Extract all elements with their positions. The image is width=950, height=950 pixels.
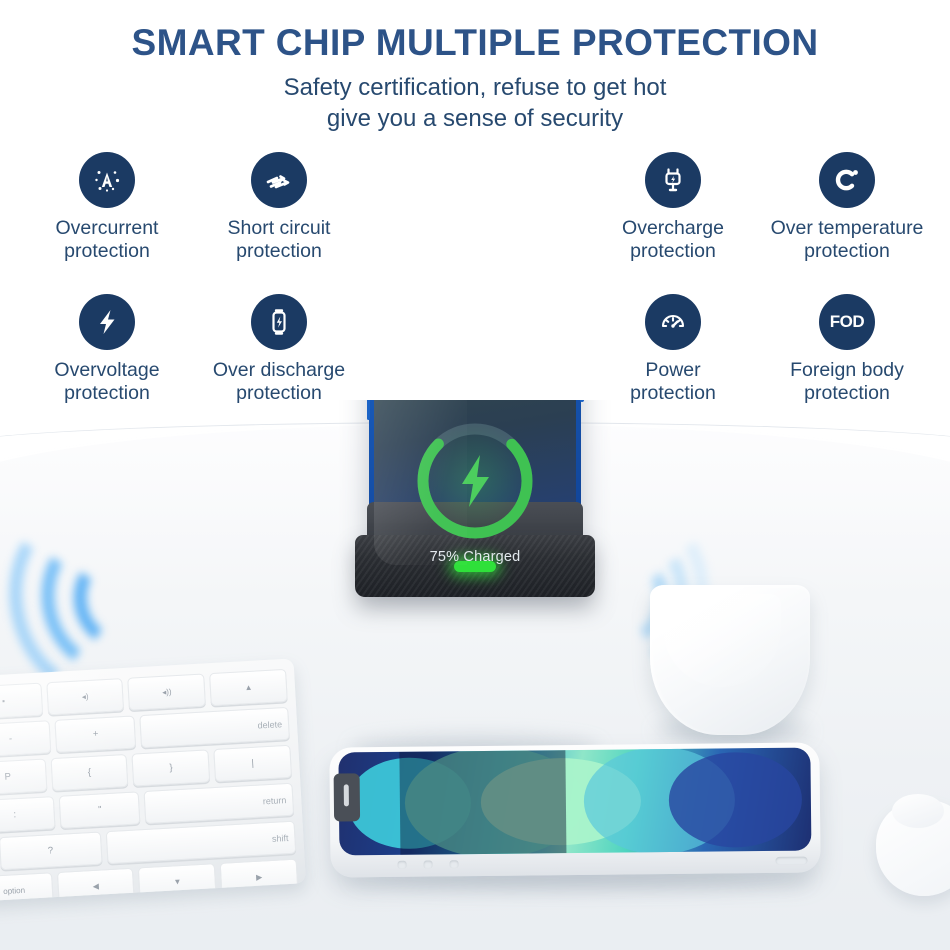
mouse-highlight xyxy=(663,594,781,687)
key-minus: - xyxy=(0,720,52,757)
feature-label: Overcharge protection xyxy=(583,217,763,262)
charging-bolt-icon xyxy=(452,453,498,509)
plug-bolt-icon xyxy=(645,152,701,208)
flat-phone xyxy=(329,742,820,877)
key-delete: delete xyxy=(140,707,290,748)
charge-status-text: 75% Charged xyxy=(374,549,576,565)
key-p: P xyxy=(0,758,47,795)
speaker-hole xyxy=(450,860,459,868)
header: SMART CHIP MULTIPLE PROTECTION Safety ce… xyxy=(0,0,950,134)
fod-text-icon: FOD xyxy=(819,294,875,350)
feature-overvoltage-protection: Overvoltage protection xyxy=(17,294,197,404)
magic-mouse xyxy=(650,585,810,735)
key-quote: " xyxy=(59,791,141,828)
key-bracket-left: { xyxy=(50,754,129,791)
feature-label: Over discharge protection xyxy=(189,359,369,404)
product-image-canvas: SMART CHIP MULTIPLE PROTECTION Safety ce… xyxy=(0,0,950,950)
screen-shadow-overlay xyxy=(400,750,566,855)
feature-over-temperature-protection: Over temperature protection xyxy=(757,152,937,262)
feature-over-discharge-protection: Over discharge protection xyxy=(189,294,369,404)
wallpaper-oval xyxy=(669,752,802,848)
key: ◂) xyxy=(46,678,125,715)
key: ◂)) xyxy=(128,673,207,710)
feature-short-circuit-protection: Short circuit protection xyxy=(189,152,369,262)
flat-phone-bottom-edge xyxy=(339,851,811,876)
speaker-hole xyxy=(398,861,407,869)
ampere-a-icon xyxy=(79,152,135,208)
magic-keyboard: ▪ ▪ ◂) ◂)) ▲ O - + delete O P { } | L xyxy=(0,658,306,906)
feature-overcurrent-protection: Overcurrent protection xyxy=(17,152,197,262)
wireless-charging-dock: ⟳ 75% Ch xyxy=(345,400,605,732)
celsius-degree-icon xyxy=(819,152,875,208)
key: ▪ xyxy=(0,683,43,720)
lightning-arrows-icon xyxy=(251,152,307,208)
feature-label: Short circuit protection xyxy=(189,217,369,262)
speaker-hole xyxy=(424,860,433,868)
feature-label: Overvoltage protection xyxy=(17,359,197,404)
charging-ring xyxy=(409,415,541,547)
key-semicolon: : xyxy=(0,796,56,833)
bolt-icon xyxy=(79,294,135,350)
fod-label: FOD xyxy=(830,312,864,332)
key-bracket-right: } xyxy=(132,749,211,786)
key-slash: ? xyxy=(0,831,103,870)
page-title: SMART CHIP MULTIPLE PROTECTION xyxy=(0,22,950,64)
gauge-icon xyxy=(645,294,701,350)
feature-foreign-body-protection: FOD Foreign body protection xyxy=(757,294,937,404)
key-return: return xyxy=(144,783,294,824)
key-backslash: | xyxy=(214,745,293,782)
product-scene: ▪ ▪ ◂) ◂)) ▲ O - + delete O P { } | L xyxy=(0,400,950,950)
key-shift: shift xyxy=(106,821,297,864)
subtitle-line-1: Safety certification, refuse to get hot xyxy=(0,73,950,103)
feature-label: Foreign body protection xyxy=(757,359,937,404)
lightning-port xyxy=(776,857,808,865)
feature-label: Power protection xyxy=(583,359,763,404)
battery-bolt-icon xyxy=(251,294,307,350)
feature-label: Over temperature protection xyxy=(757,217,937,262)
key: ▲ xyxy=(209,669,288,706)
flat-phone-screen xyxy=(338,748,811,856)
flat-phone-notch xyxy=(334,773,361,821)
feature-overcharge-protection: Overcharge protection xyxy=(583,152,763,262)
feature-power-protection: Power protection xyxy=(583,294,763,404)
feature-label: Overcurrent protection xyxy=(17,217,197,262)
subtitle-line-2: give you a sense of security xyxy=(0,104,950,134)
key-plus: + xyxy=(55,715,137,752)
